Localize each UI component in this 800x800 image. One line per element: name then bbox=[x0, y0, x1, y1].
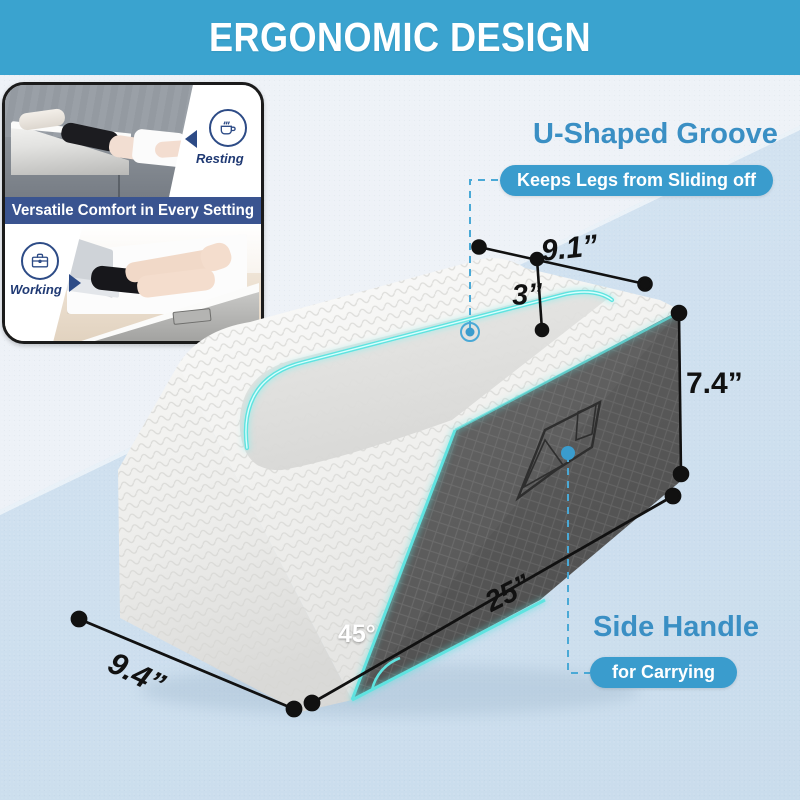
infographic-canvas: ERGONOMIC DESIGN Resting bbox=[0, 0, 800, 800]
callout-title-groove: U-Shaped Groove bbox=[533, 118, 778, 151]
dimension-label-angle: 45° bbox=[338, 620, 376, 649]
callout-pill-handle: for Carrying bbox=[590, 657, 737, 688]
handle-marker-dot bbox=[561, 446, 575, 460]
callout-title-handle: Side Handle bbox=[593, 611, 759, 644]
dimension-label-groove-width: 9.1” bbox=[539, 229, 599, 269]
dimension-label-height: 7.4” bbox=[686, 367, 743, 401]
dimension-label-groove-depth: 3” bbox=[511, 278, 544, 313]
callout-pill-groove: Keeps Legs from Sliding off bbox=[500, 165, 773, 196]
